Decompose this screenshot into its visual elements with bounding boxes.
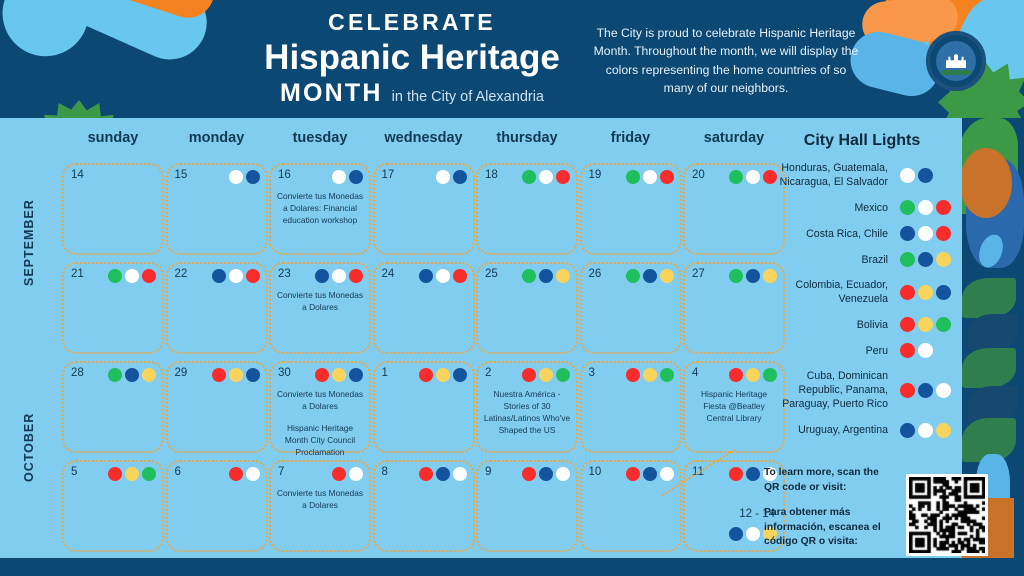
light-dot-blue	[349, 170, 363, 184]
light-dot-yellow	[936, 252, 951, 267]
calendar-day-cell[interactable]: 28	[62, 361, 164, 453]
legend-country-names: Mexico	[762, 201, 888, 215]
light-dot-white	[918, 226, 933, 241]
day-light-colors	[436, 170, 467, 184]
day-number: 3	[589, 367, 595, 379]
day-number: 10	[589, 466, 602, 478]
light-dot-green	[108, 269, 122, 283]
light-dot-red	[419, 368, 433, 382]
day-light-colors	[522, 170, 570, 184]
light-dot-red	[419, 467, 433, 481]
day-light-colors	[626, 467, 674, 481]
light-dot-green	[142, 467, 156, 481]
light-dot-white	[918, 343, 933, 358]
light-dot-green	[660, 368, 674, 382]
title-block: CELEBRATE Hispanic Heritage MONTH in the…	[232, 8, 592, 108]
light-dot-blue	[900, 423, 915, 438]
calendar-day-cell[interactable]: 2Nuestra América - Stories of 30 Latinas…	[476, 361, 578, 453]
light-dot-white	[936, 383, 951, 398]
day-light-colors	[315, 368, 363, 382]
day-light-colors	[332, 170, 363, 184]
day-number: 5	[71, 466, 77, 478]
light-dot-yellow	[643, 368, 657, 382]
intro-paragraph: The City is proud to celebrate Hispanic …	[592, 24, 860, 97]
poster-root: CELEBRATE Hispanic Heritage MONTH in the…	[0, 0, 1024, 576]
light-dot-red	[108, 467, 122, 481]
light-dot-yellow	[746, 368, 760, 382]
calendar-day-cell[interactable]: 7Convierte tus Monedas a Dolares	[269, 460, 371, 552]
calendar-day-cell[interactable]: 6	[166, 460, 268, 552]
day-header-sunday: sunday	[62, 130, 164, 146]
light-dot-green	[729, 170, 743, 184]
poster-header: CELEBRATE Hispanic Heritage MONTH in the…	[0, 0, 1024, 118]
legend-country-names: Bolivia	[762, 318, 888, 332]
legend-country-names: Cuba, Dominican Republic, Panama, Paragu…	[762, 369, 888, 411]
day-header-friday: friday	[580, 130, 682, 146]
day-light-colors	[626, 269, 674, 283]
day-number: 18	[485, 169, 498, 181]
day-number: 8	[382, 466, 388, 478]
legend-country-names: Costa Rica, Chile	[762, 227, 888, 241]
light-dot-white	[453, 467, 467, 481]
light-dot-white	[746, 170, 760, 184]
legend-light-colors	[900, 285, 951, 300]
legend-row: Honduras, Guatemala, Nicaragua, El Salva…	[762, 161, 962, 189]
calendar-day-cell[interactable]: 21	[62, 262, 164, 354]
light-dot-red	[212, 368, 226, 382]
day-event-text: Convierte tus Monedas a Dolares: Financi…	[276, 191, 364, 227]
legend-row: Costa Rica, Chile	[762, 226, 962, 241]
light-dot-blue	[246, 368, 260, 382]
day-number: 26	[589, 268, 602, 280]
calendar-day-cell[interactable]: 14	[62, 163, 164, 255]
light-dot-red	[315, 368, 329, 382]
day-number: 23	[278, 268, 291, 280]
day-light-colors	[419, 467, 467, 481]
calendar-day-cell[interactable]: 29	[166, 361, 268, 453]
day-number: 19	[589, 169, 602, 181]
city-of-alexandria-seal-icon	[928, 33, 984, 89]
legend-light-colors	[900, 383, 951, 398]
day-number: 25	[485, 268, 498, 280]
light-dot-blue	[125, 368, 139, 382]
light-dot-red	[522, 467, 536, 481]
light-dot-red	[900, 285, 915, 300]
legend-country-names: Colombia, Ecuador, Venezuela	[762, 278, 888, 306]
light-dot-white	[660, 467, 674, 481]
light-dot-red	[626, 467, 640, 481]
light-dot-blue	[539, 269, 553, 283]
qr-instructions-english: To learn more, scan the QR code or visit…	[764, 466, 884, 495]
celebrate-label: CELEBRATE	[232, 8, 592, 38]
legend-country-names: Honduras, Guatemala, Nicaragua, El Salva…	[762, 161, 888, 189]
light-dot-blue	[453, 368, 467, 382]
day-header-monday: monday	[166, 130, 268, 146]
legend-title: City Hall Lights	[762, 132, 962, 150]
calendar-day-cell[interactable]: 19	[580, 163, 682, 255]
light-dot-white	[918, 423, 933, 438]
day-light-colors	[212, 269, 260, 283]
light-dot-green	[626, 269, 640, 283]
calendar-day-cell[interactable]: 25	[476, 262, 578, 354]
light-dot-yellow	[229, 368, 243, 382]
calendar-day-cell[interactable]: 16Convierte tus Monedas a Dolares: Finan…	[269, 163, 371, 255]
month-label-september: SEPTEMBER	[22, 176, 36, 286]
light-dot-blue	[918, 383, 933, 398]
light-dot-green	[729, 269, 743, 283]
qr-code[interactable]	[906, 474, 988, 556]
legend-light-colors	[900, 252, 951, 267]
day-number: 2	[485, 367, 491, 379]
light-dot-red	[626, 368, 640, 382]
light-dot-yellow	[125, 467, 139, 481]
light-dot-red	[936, 200, 951, 215]
calendar-day-cell[interactable]: 23Convierte tus Monedas a Dolares	[269, 262, 371, 354]
calendar-day-cell[interactable]: 9	[476, 460, 578, 552]
legend-country-names: Peru	[762, 344, 888, 358]
light-dot-blue	[419, 269, 433, 283]
light-dot-red	[522, 368, 536, 382]
light-dot-blue	[539, 467, 553, 481]
legend-row: Colombia, Ecuador, Venezuela	[762, 278, 962, 306]
light-dot-yellow	[436, 368, 450, 382]
day-number: 16	[278, 169, 291, 181]
light-dot-blue	[212, 269, 226, 283]
light-dot-red	[229, 467, 243, 481]
light-dot-blue	[729, 527, 743, 541]
day-event-text: Nuestra América - Stories of 30 Latinas/…	[483, 389, 571, 437]
day-header-wednesday: wednesday	[373, 130, 475, 146]
day-light-colors	[332, 467, 363, 481]
day-number: 24	[382, 268, 395, 280]
seal-building-icon	[946, 54, 966, 68]
light-dot-white	[900, 168, 915, 183]
day-event-text-secondary: Hispanic Heritage Month City Council Pro…	[276, 423, 364, 459]
day-number: 30	[278, 367, 291, 379]
light-dot-green	[900, 252, 915, 267]
day-light-colors	[522, 368, 570, 382]
day-number: 1	[382, 367, 388, 379]
legend-row: Brazil	[762, 252, 962, 267]
day-header-thursday: thursday	[476, 130, 578, 146]
seal-base	[941, 70, 971, 75]
day-light-colors	[522, 467, 570, 481]
calendar-day-cell[interactable]: 3	[580, 361, 682, 453]
city-subtitle: in the City of Alexandria	[392, 89, 544, 108]
day-light-colors	[108, 467, 156, 481]
month-word: MONTH	[280, 79, 383, 108]
light-dot-yellow	[660, 269, 674, 283]
legend-light-colors	[900, 317, 951, 332]
day-number: 27	[692, 268, 705, 280]
light-dot-blue	[643, 269, 657, 283]
month-label-october: OCTOBER	[22, 382, 36, 482]
light-dot-red	[246, 269, 260, 283]
qr-block: To learn more, scan the QR code or visit…	[764, 466, 1014, 550]
seal-inner	[936, 41, 976, 81]
legend-row: Mexico	[762, 200, 962, 215]
day-light-colors	[419, 368, 467, 382]
calendar-day-cell[interactable]: 5	[62, 460, 164, 552]
light-dot-blue	[643, 467, 657, 481]
day-event-text: Convierte tus Monedas a Dolares	[276, 389, 364, 413]
calendar-day-cell[interactable]: 15	[166, 163, 268, 255]
light-dot-yellow	[556, 269, 570, 283]
day-light-colors	[108, 269, 156, 283]
light-dot-yellow	[332, 368, 346, 382]
light-dot-green	[522, 170, 536, 184]
day-light-colors	[108, 368, 156, 382]
light-dot-red	[900, 383, 915, 398]
day-light-colors	[522, 269, 570, 283]
light-dot-white	[918, 200, 933, 215]
day-number: 29	[175, 367, 188, 379]
day-number: 7	[278, 466, 284, 478]
light-dot-green	[900, 200, 915, 215]
day-header-tuesday: tuesday	[269, 130, 371, 146]
legend-light-colors	[900, 200, 951, 215]
day-number: 9	[485, 466, 491, 478]
legend-row: Uruguay, Argentina	[762, 423, 962, 438]
legend-light-colors	[900, 343, 933, 358]
calendar-day-cell[interactable]: 18	[476, 163, 578, 255]
legend-row: Bolivia	[762, 317, 962, 332]
light-dot-green	[108, 368, 122, 382]
qr-instructions-spanish: Para obtener más información, escanea el…	[764, 506, 884, 550]
light-dot-yellow	[918, 317, 933, 332]
light-dot-yellow	[142, 368, 156, 382]
light-dot-blue	[900, 226, 915, 241]
day-light-colors	[229, 467, 260, 481]
light-dot-red	[729, 368, 743, 382]
light-dot-white	[349, 467, 363, 481]
city-hall-lights-legend: City Hall Lights Honduras, Guatemala, Ni…	[762, 118, 962, 438]
light-dot-blue	[918, 252, 933, 267]
day-light-colors	[626, 368, 674, 382]
legend-row: Peru	[762, 343, 962, 358]
light-dot-white	[229, 269, 243, 283]
legend-country-names: Uruguay, Argentina	[762, 423, 888, 437]
light-dot-yellow	[918, 285, 933, 300]
light-dot-green	[556, 368, 570, 382]
day-number: 22	[175, 268, 188, 280]
legend-light-colors	[900, 168, 933, 183]
light-dot-blue	[453, 170, 467, 184]
light-dot-yellow	[539, 368, 553, 382]
light-dot-green	[626, 170, 640, 184]
light-dot-white	[436, 170, 450, 184]
day-event-text: Convierte tus Monedas a Dolares	[276, 488, 364, 512]
light-dot-blue	[918, 168, 933, 183]
day-number: 14	[71, 169, 84, 181]
day-light-colors	[626, 170, 674, 184]
light-dot-green	[936, 317, 951, 332]
day-number: 21	[71, 268, 84, 280]
day-event-text: Convierte tus Monedas a Dolares	[276, 290, 364, 314]
calendar-day-cell[interactable]: 22	[166, 262, 268, 354]
light-dot-red	[900, 343, 915, 358]
calendar-day-cell[interactable]: 17	[373, 163, 475, 255]
light-dot-green	[522, 269, 536, 283]
day-light-colors	[315, 269, 363, 283]
light-dot-red	[936, 226, 951, 241]
light-dot-yellow	[936, 423, 951, 438]
light-dot-blue	[315, 269, 329, 283]
legend-rows: Honduras, Guatemala, Nicaragua, El Salva…	[762, 161, 962, 438]
light-dot-blue	[349, 368, 363, 382]
day-number: 28	[71, 367, 84, 379]
day-number: 17	[382, 169, 395, 181]
day-light-colors	[229, 170, 260, 184]
legend-row: Cuba, Dominican Republic, Panama, Paragu…	[762, 369, 962, 411]
light-dot-white	[229, 170, 243, 184]
light-dot-red	[660, 170, 674, 184]
light-dot-blue	[246, 170, 260, 184]
day-number: 15	[175, 169, 188, 181]
calendar-day-cell[interactable]: 8	[373, 460, 475, 552]
page-title: Hispanic Heritage	[232, 37, 592, 78]
light-dot-white	[436, 269, 450, 283]
calendar-day-cell[interactable]: 26	[580, 262, 682, 354]
light-dot-red	[556, 170, 570, 184]
light-dot-red	[453, 269, 467, 283]
calendar-day-cell[interactable]: 1	[373, 361, 475, 453]
light-dot-white	[556, 467, 570, 481]
light-dot-red	[142, 269, 156, 283]
day-light-colors	[212, 368, 260, 382]
light-dot-blue	[936, 285, 951, 300]
light-dot-white	[125, 269, 139, 283]
day-number: 20	[692, 169, 705, 181]
light-dot-red	[900, 317, 915, 332]
light-dot-blue	[746, 269, 760, 283]
calendar-day-cell[interactable]: 10	[580, 460, 682, 552]
light-dot-red	[349, 269, 363, 283]
light-dot-white	[332, 170, 346, 184]
day-light-colors	[419, 269, 467, 283]
calendar-day-cell[interactable]: 30Convierte tus Monedas a DolaresHispani…	[269, 361, 371, 453]
light-dot-white	[332, 269, 346, 283]
light-dot-white	[643, 170, 657, 184]
light-dot-white	[746, 527, 760, 541]
bottom-bar	[0, 558, 1024, 576]
legend-light-colors	[900, 423, 951, 438]
light-dot-white	[246, 467, 260, 481]
calendar-day-cell[interactable]: 24	[373, 262, 475, 354]
legend-country-names: Brazil	[762, 253, 888, 267]
legend-light-colors	[900, 226, 951, 241]
day-number: 4	[692, 367, 698, 379]
day-number: 6	[175, 466, 181, 478]
light-dot-red	[332, 467, 346, 481]
light-dot-white	[539, 170, 553, 184]
light-dot-blue	[436, 467, 450, 481]
